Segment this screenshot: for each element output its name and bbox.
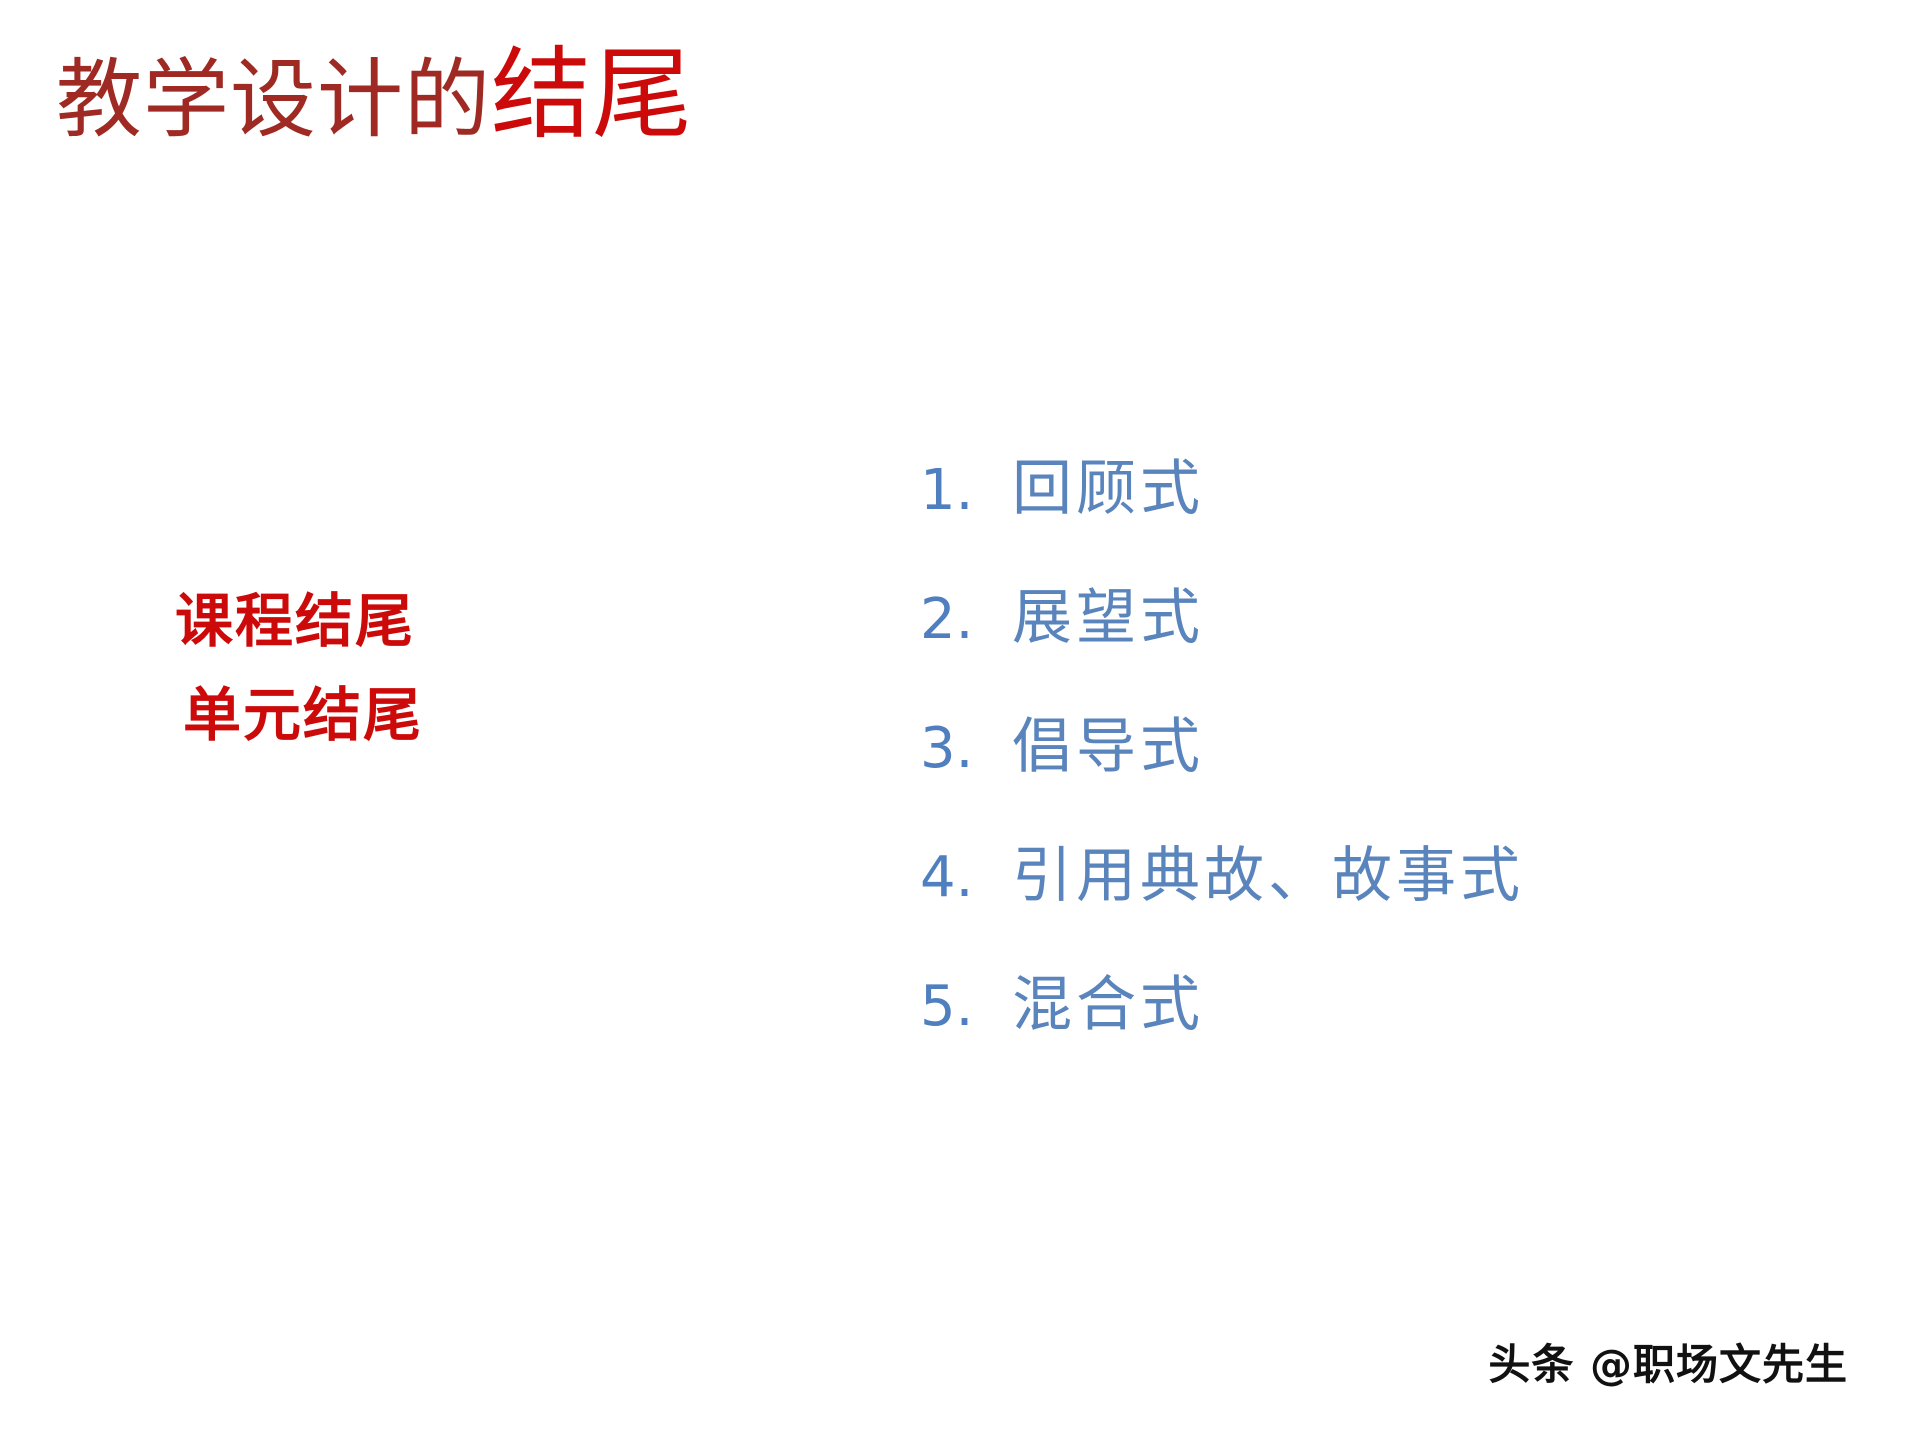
numbered-list: 1. 回顾式 2. 展望式 3. 倡导式 4. 引用典故、故事式 5. 混合式 — [920, 440, 1820, 1043]
list-item: 5. 混合式 — [920, 956, 1820, 1043]
left-text-line-2: 单元结尾 — [175, 669, 595, 763]
left-text-line-1: 课程结尾 — [175, 575, 595, 669]
list-item-label: 混合式 — [1012, 956, 1204, 1043]
list-item: 2. 展望式 — [920, 569, 1820, 656]
page-title: 教学设计的结尾 — [56, 36, 693, 154]
list-item-label: 引用典故、故事式 — [1012, 827, 1524, 914]
list-item-label: 展望式 — [1012, 569, 1204, 656]
list-item-number: 1. — [920, 458, 1012, 523]
watermark: 头条 @职场文先生 — [1488, 1331, 1848, 1392]
list-item-number: 3. — [920, 716, 1012, 781]
list-item-number: 5. — [920, 974, 1012, 1039]
list-item-label: 回顾式 — [1012, 440, 1204, 527]
page-title-main: 教学设计的 — [56, 50, 491, 150]
list-item-number: 2. — [920, 587, 1012, 652]
list-item: 3. 倡导式 — [920, 698, 1820, 785]
list-item: 4. 引用典故、故事式 — [920, 827, 1820, 914]
left-red-text-block: 课程结尾 单元结尾 — [175, 575, 595, 763]
slide-canvas: 教学设计的结尾 课程结尾 单元结尾 1. 回顾式 2. 展望式 3. 倡导式 4… — [0, 0, 1920, 1440]
list-item-number: 4. — [920, 845, 1012, 910]
list-item: 1. 回顾式 — [920, 440, 1820, 527]
list-item-label: 倡导式 — [1012, 698, 1204, 785]
page-title-accent: 结尾 — [491, 36, 693, 153]
